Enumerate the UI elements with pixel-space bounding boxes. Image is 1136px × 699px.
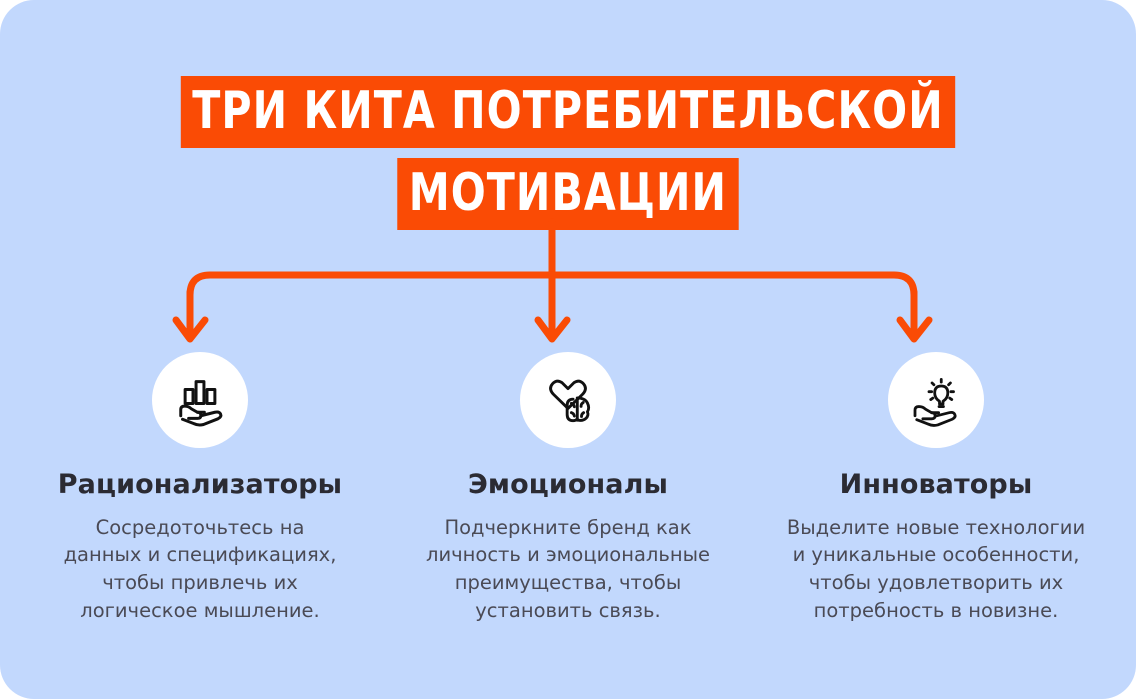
column-heading-1: Рационализаторы (58, 470, 342, 500)
icon-circle-3 (888, 352, 984, 448)
icon-circle-2 (520, 352, 616, 448)
connector-bracket (190, 275, 914, 295)
column-emotionals: Эмоционалы Подчеркните бренд как личност… (384, 352, 752, 624)
column-body-2: Подчеркните бренд как личность и эмоцион… (398, 514, 738, 625)
column-rationalizers: Рационализаторы Сосредоточьтесь на данны… (16, 352, 384, 624)
arrowhead-right (900, 320, 929, 339)
column-innovators: Инноваторы Выделите новые технологии и у… (752, 352, 1120, 624)
column-body-1: Сосредоточьтесь на данных и спецификация… (35, 514, 365, 625)
title-line-2: МОТИВАЦИИ (397, 158, 738, 230)
column-heading-2: Эмоционалы (468, 470, 668, 500)
title-line-1: ТРИ КИТА ПОТРЕБИТЕЛЬСКОЙ (181, 76, 955, 148)
arrowhead-left (176, 320, 205, 339)
columns-container: Рационализаторы Сосредоточьтесь на данны… (0, 352, 1136, 624)
infographic-card: ТРИ КИТА ПОТРЕБИТЕЛЬСКОЙ МОТИВАЦИИ (0, 0, 1136, 699)
heart-and-brain-icon (541, 373, 595, 427)
hand-holding-lightbulb-icon (908, 372, 964, 428)
page-title: ТРИ КИТА ПОТРЕБИТЕЛЬСКОЙ МОТИВАЦИИ (0, 76, 1136, 230)
column-body-3: Выделите новые технологии и уникальные о… (763, 514, 1109, 625)
icon-circle-1 (152, 352, 248, 448)
arrowhead-middle (538, 320, 567, 339)
column-heading-3: Инноваторы (840, 470, 1033, 500)
hand-holding-bar-chart-icon (172, 372, 228, 428)
